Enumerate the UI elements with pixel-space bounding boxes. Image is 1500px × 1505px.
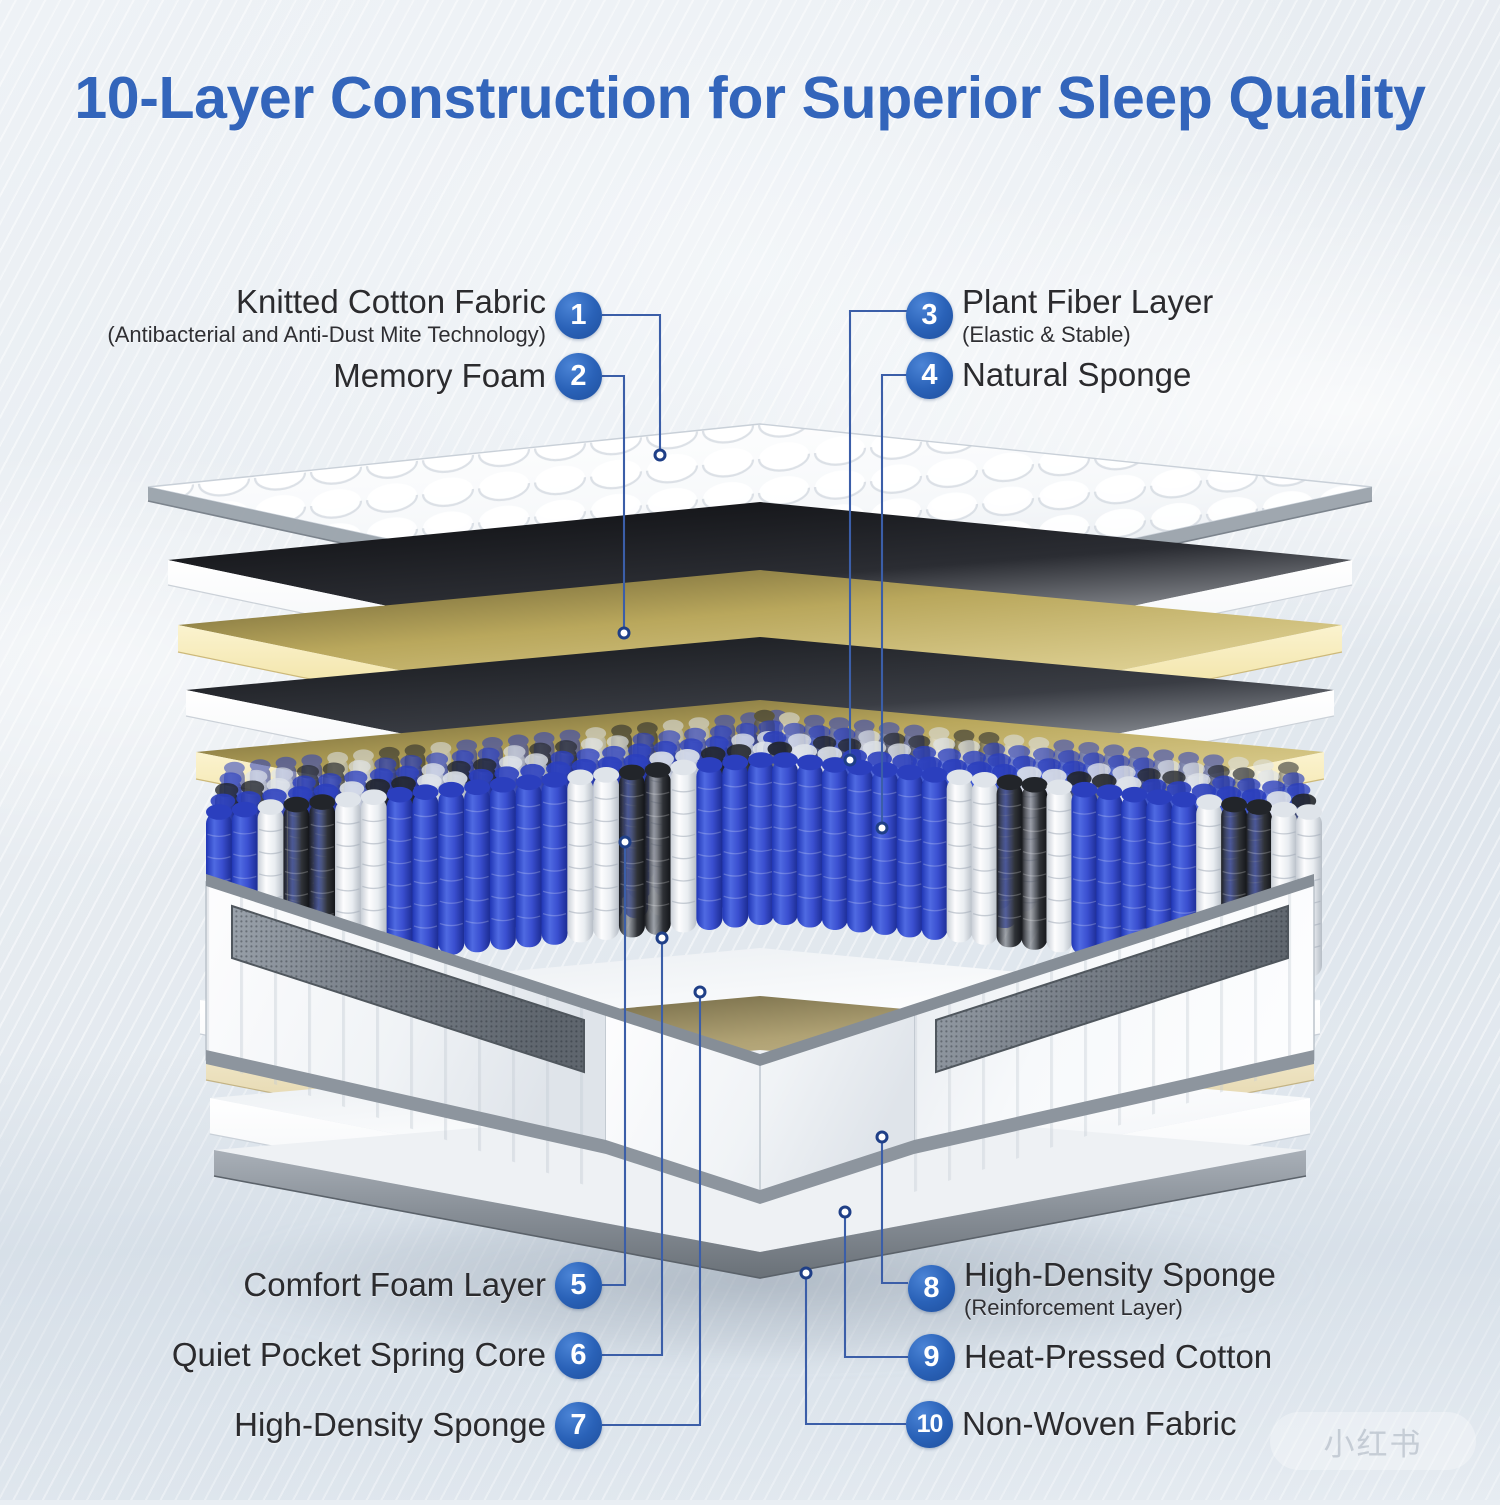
pocket-coil [748,752,774,925]
callout-badge-6[interactable]: 6 [555,1332,602,1379]
pocket-coil [1046,779,1072,952]
pocket-coil [645,762,671,935]
callout-2-title: Memory Foam [333,359,546,394]
callout-1-subtitle: (Antibacterial and Anti-Dust Mite Techno… [107,322,546,347]
callout-4[interactable]: 4 Natural Sponge [906,352,1191,399]
pocket-coil [922,767,948,940]
pocket-coil [772,752,798,925]
callout-6-title: Quiet Pocket Spring Core [172,1338,546,1373]
callout-8-subtitle: (Reinforcement Layer) [964,1295,1183,1320]
callout-10-title: Non-Woven Fabric [962,1407,1237,1442]
pocket-coil [847,760,873,933]
callout-3[interactable]: 3 Plant Fiber Layer (Elastic & Stable) [906,285,1213,347]
pocket-coil [722,755,748,928]
pocket-coil [619,765,645,938]
callout-1[interactable]: Knitted Cotton Fabric (Antibacterial and… [14,285,602,347]
pocket-coil [947,770,973,943]
pocket-coil [797,755,823,928]
pocket-coil [593,767,619,940]
callout-7[interactable]: High-Density Sponge 7 [14,1402,602,1449]
callout-9-title: Heat-Pressed Cotton [964,1340,1272,1375]
pocket-coil [671,760,697,933]
callout-4-title: Natural Sponge [962,358,1191,393]
callout-9[interactable]: 9 Heat-Pressed Cotton [908,1334,1272,1381]
pocket-coil [822,757,848,930]
callout-badge-2[interactable]: 2 [555,353,602,400]
page-title: 10-Layer Construction for Superior Sleep… [0,64,1500,132]
callout-badge-9[interactable]: 9 [908,1334,955,1381]
callout-badge-4[interactable]: 4 [906,352,953,399]
callout-10[interactable]: 10 Non-Woven Fabric [906,1401,1237,1448]
callout-8[interactable]: 8 High-Density Sponge (Reinforcement Lay… [908,1258,1276,1320]
callout-6[interactable]: Quiet Pocket Spring Core 6 [14,1332,602,1379]
callout-badge-3[interactable]: 3 [906,292,953,339]
pocket-coil [696,757,722,930]
pocket-coil [997,774,1023,947]
pocket-coil [872,762,898,935]
watermark: 小红书 [1270,1412,1476,1470]
callout-5[interactable]: Comfort Foam Layer 5 [14,1262,602,1309]
callout-1-title: Knitted Cotton Fabric [236,285,546,320]
callout-8-title: High-Density Sponge [964,1258,1276,1293]
pocket-coil [897,765,923,938]
pocket-coil [1071,782,1097,955]
pocket-coil [1022,777,1048,950]
callout-badge-1[interactable]: 1 [555,292,602,339]
callout-5-title: Comfort Foam Layer [243,1268,546,1303]
callout-7-title: High-Density Sponge [234,1408,546,1443]
callout-badge-5[interactable]: 5 [555,1262,602,1309]
pocket-coil [972,772,998,945]
callout-badge-10[interactable]: 10 [906,1401,953,1448]
callout-3-title: Plant Fiber Layer [962,285,1213,320]
callout-badge-7[interactable]: 7 [555,1402,602,1449]
callout-badge-8[interactable]: 8 [908,1265,955,1312]
callout-3-subtitle: (Elastic & Stable) [962,322,1131,347]
pocket-coil [1096,784,1122,957]
callout-2[interactable]: Memory Foam 2 [14,353,602,400]
